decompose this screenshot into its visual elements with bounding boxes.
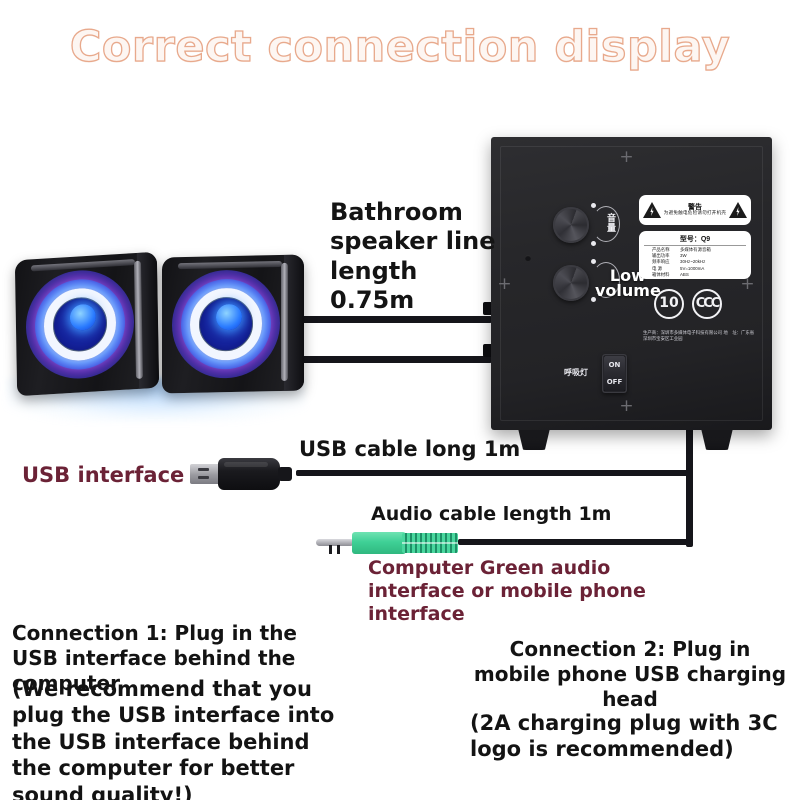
switch-off-label: OFF xyxy=(604,378,625,386)
bass-volume-knob[interactable] xyxy=(553,265,589,301)
usb-cable-line xyxy=(296,470,692,476)
jack-strain-relief xyxy=(402,533,458,553)
ccc-certification-icon: CCC xyxy=(692,289,722,319)
speaker-led-ring xyxy=(172,269,280,379)
volume-knob[interactable] xyxy=(553,207,589,243)
page-title: Correct connection display xyxy=(0,22,800,72)
speaker-left xyxy=(15,252,159,397)
speaker-led-ring xyxy=(25,267,135,382)
warning-text: 警告 为避免触电危险请勿打开机壳 xyxy=(661,204,729,217)
speaker-cable-bottom xyxy=(300,356,492,363)
connection1-note: (We recommend that you plug the USB inte… xyxy=(12,676,352,800)
speaker-line-callout: Bathroom speaker line length 0.75m xyxy=(330,198,505,315)
knob-scale-dot xyxy=(591,203,596,208)
warning-triangle-icon xyxy=(729,202,747,218)
switch-rocker[interactable]: ON OFF xyxy=(604,356,625,391)
audio-jack-connector xyxy=(316,532,476,554)
warning-plate: 警告 为避免触电危险请勿打开机壳 xyxy=(639,195,751,225)
subwoofer-back-panel: + + + + 音量 Lowvolume 警告 为避免触电危险请勿打开机壳 型号… xyxy=(491,137,772,430)
panel-hole xyxy=(525,255,531,261)
manufacturer-fineprint: 生产商：深圳市多媒体电子科技有限公司 地 址：广东省深圳市宝安区工业园 xyxy=(643,331,755,343)
knob-scale-dot xyxy=(591,241,596,246)
speaker-right xyxy=(162,255,304,394)
warning-triangle-icon xyxy=(643,202,661,218)
speaker-pair xyxy=(14,256,316,406)
usb-strain-relief xyxy=(278,467,292,481)
screw-icon: + xyxy=(740,277,755,292)
volume-label-cn: 音量 xyxy=(604,213,617,233)
usb-cable-callout: USB cable long 1m xyxy=(299,437,520,463)
speaker-edge-strip xyxy=(281,263,288,381)
breathing-light-label-cn: 呼吸灯 xyxy=(564,367,588,378)
audio-target-callout: Computer Green audio interface or mobile… xyxy=(368,557,698,625)
jack-metal-tip xyxy=(316,539,354,546)
model-spec-plate: 型号：Q9 产品名称 多媒体有源音箱 输出功率 3W 频率响应 30Hz~20k… xyxy=(639,231,751,279)
usb-plug-housing xyxy=(218,458,280,490)
speaker-top-strip xyxy=(178,261,282,269)
speaker-cable-top xyxy=(300,316,492,323)
screw-icon: + xyxy=(619,399,634,414)
connection2-heading: Connection 2: Plug in mobile phone USB c… xyxy=(470,637,790,713)
usb-connector xyxy=(190,458,302,490)
switch-on-label: ON xyxy=(604,361,625,369)
jack-green-body xyxy=(352,532,406,554)
audio-cable-line xyxy=(458,539,692,545)
connection-diagram: Correct connection display xyxy=(0,0,800,800)
knob-scale-dot xyxy=(591,259,596,264)
power-light-switch[interactable]: ON OFF xyxy=(602,354,627,393)
usb-interface-callout: USB interface xyxy=(22,463,184,488)
audio-cable-callout: Audio cable length 1m xyxy=(371,503,611,526)
model-heading: 型号：Q9 xyxy=(644,234,746,246)
spec-row: 箱体材料 ABS xyxy=(644,272,746,278)
screw-icon: + xyxy=(619,150,634,165)
connection2-note: (2A charging plug with 3C logo is recomm… xyxy=(470,710,790,763)
rohs-icon: 10 xyxy=(654,289,684,319)
